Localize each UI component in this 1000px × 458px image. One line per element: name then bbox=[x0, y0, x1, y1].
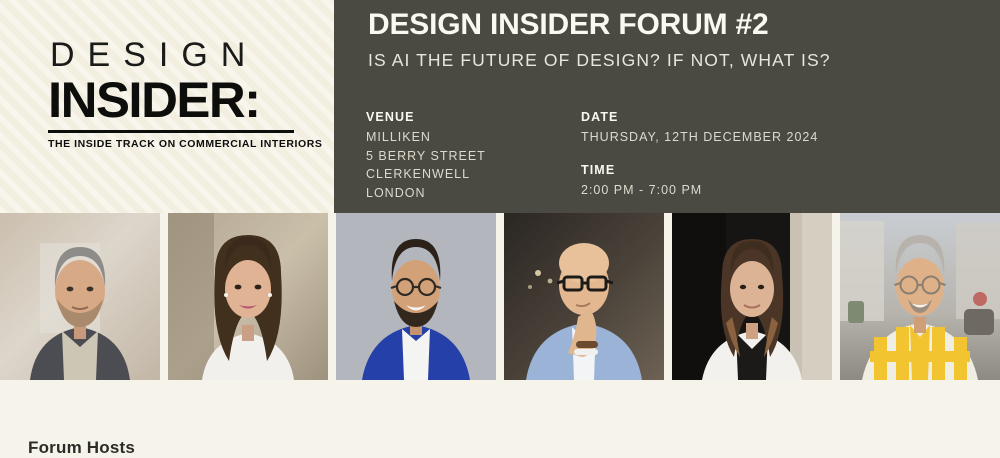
speaker-photo-strip bbox=[0, 213, 1000, 380]
logo-tagline: THE INSIDE TRACK ON COMMERCIAL INTERIORS bbox=[48, 138, 298, 150]
speaker-photo-3 bbox=[336, 213, 496, 380]
event-banner: DESIGN INSIDER: THE INSIDE TRACK ON COMM… bbox=[0, 0, 1000, 450]
venue-line-2: 5 BERRY STREET bbox=[366, 147, 581, 166]
portrait-4-image bbox=[504, 213, 664, 380]
venue-label: VENUE bbox=[366, 110, 581, 124]
date-value: THURSDAY, 12TH DECEMBER 2024 bbox=[581, 128, 796, 147]
venue-line-3: CLERKENWELL bbox=[366, 165, 581, 184]
design-insider-logo[interactable]: DESIGN INSIDER: THE INSIDE TRACK ON COMM… bbox=[48, 38, 298, 150]
event-info-panel: DESIGN INSIDER FORUM #2 IS AI THE FUTURE… bbox=[334, 0, 1000, 213]
logo-panel: DESIGN INSIDER: THE INSIDE TRACK ON COMM… bbox=[0, 0, 334, 213]
venue-line-1: MILLIKEN bbox=[366, 128, 581, 147]
speaker-photo-1 bbox=[0, 213, 160, 380]
time-value: 2:00 PM - 7:00 PM bbox=[581, 181, 796, 200]
venue-group: VENUE MILLIKEN 5 BERRY STREET CLERKENWEL… bbox=[366, 110, 581, 202]
event-subtitle: IS AI THE FUTURE OF DESIGN? IF NOT, WHAT… bbox=[368, 49, 831, 72]
date-label: DATE bbox=[581, 110, 796, 124]
venue-line-4: LONDON bbox=[366, 184, 581, 203]
speaker-photo-4 bbox=[504, 213, 664, 380]
speaker-photo-2 bbox=[168, 213, 328, 380]
time-label: TIME bbox=[581, 163, 796, 177]
portrait-6-image bbox=[840, 213, 1000, 380]
time-group: TIME 2:00 PM - 7:00 PM bbox=[581, 163, 796, 200]
event-details: VENUE MILLIKEN 5 BERRY STREET CLERKENWEL… bbox=[366, 110, 796, 202]
speaker-photo-5 bbox=[672, 213, 832, 380]
bottom-area: Forum Hosts bbox=[0, 380, 1000, 450]
top-band: DESIGN INSIDER: THE INSIDE TRACK ON COMM… bbox=[0, 0, 1000, 213]
venue-column: VENUE MILLIKEN 5 BERRY STREET CLERKENWEL… bbox=[366, 110, 581, 202]
logo-divider-rule bbox=[48, 130, 294, 133]
speaker-photo-6 bbox=[840, 213, 1000, 380]
date-group: DATE THURSDAY, 12TH DECEMBER 2024 bbox=[581, 110, 796, 147]
logo-word-design: DESIGN bbox=[48, 38, 298, 72]
event-title: DESIGN INSIDER FORUM #2 bbox=[368, 6, 768, 44]
portrait-5-image bbox=[672, 213, 832, 380]
bottom-section-heading: Forum Hosts bbox=[28, 438, 135, 458]
portrait-3-image bbox=[336, 213, 496, 380]
portrait-2-image bbox=[168, 213, 328, 380]
datetime-column: DATE THURSDAY, 12TH DECEMBER 2024 TIME 2… bbox=[581, 110, 796, 202]
portrait-1-image bbox=[0, 213, 160, 380]
logo-word-insider: INSIDER: bbox=[48, 75, 303, 126]
